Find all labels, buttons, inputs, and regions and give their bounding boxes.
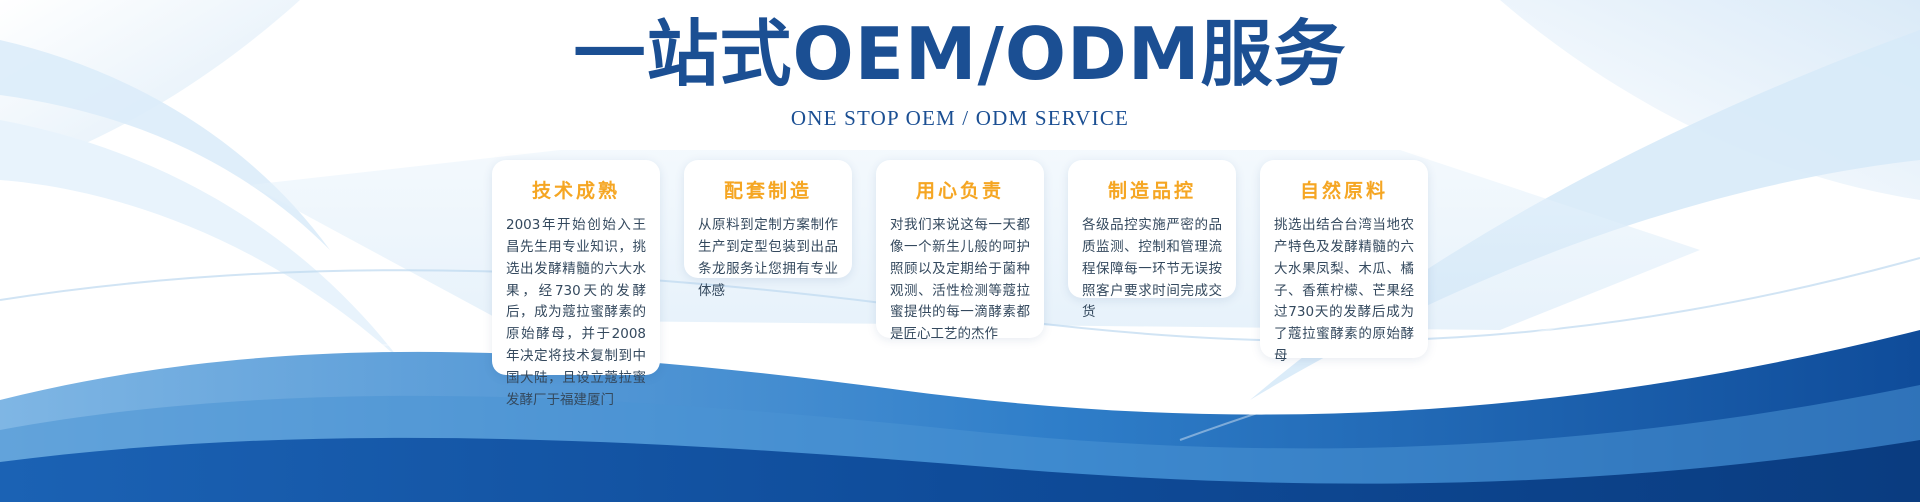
card-title-3: 用心负责 xyxy=(890,176,1030,203)
card-title-5: 自然原料 xyxy=(1274,176,1414,203)
card-title-2: 配套制造 xyxy=(698,176,838,203)
card-title-4: 制造品控 xyxy=(1082,176,1222,203)
feature-card-5[interactable]: 自然原料 挑选出结合台湾当地农产特色及发酵精髓的六大水果凤梨、木瓜、橘子、香蕉柠… xyxy=(1260,160,1428,358)
card-body-2: 从原料到定制方案制作生产到定型包装到出品条龙服务让您拥有专业体感 xyxy=(698,215,838,302)
card-body-3: 对我们来说这每一天都像一个新生儿般的呵护照顾以及定期给于菌种观测、活性检测等蔻拉… xyxy=(890,215,1030,346)
card-body-4: 各级品控实施严密的品质监测、控制和管理流程保障每一环节无误按照客户要求时间完成交… xyxy=(1082,215,1222,324)
feature-card-1[interactable]: 技术成熟 2003年开始创始入王昌先生用专业知识，挑选出发酵精髓的六大水果，经7… xyxy=(492,160,660,375)
feature-card-3[interactable]: 用心负责 对我们来说这每一天都像一个新生儿般的呵护照顾以及定期给于菌种观测、活性… xyxy=(876,160,1044,338)
card-body-1: 2003年开始创始入王昌先生用专业知识，挑选出发酵精髓的六大水果，经730天的发… xyxy=(506,215,646,412)
feature-card-list: 技术成熟 2003年开始创始入王昌先生用专业知识，挑选出发酵精髓的六大水果，经7… xyxy=(0,160,1920,380)
header-block: 一站式OEM/ODM服务 ONE STOP OEM / ODM SERVICE xyxy=(0,18,1920,131)
page-subtitle: ONE STOP OEM / ODM SERVICE xyxy=(0,106,1920,131)
card-title-1: 技术成熟 xyxy=(506,176,646,203)
banner-root: 一站式OEM/ODM服务 ONE STOP OEM / ODM SERVICE … xyxy=(0,0,1920,502)
feature-card-4[interactable]: 制造品控 各级品控实施严密的品质监测、控制和管理流程保障每一环节无误按照客户要求… xyxy=(1068,160,1236,298)
card-body-5: 挑选出结合台湾当地农产特色及发酵精髓的六大水果凤梨、木瓜、橘子、香蕉柠檬、芒果经… xyxy=(1274,215,1414,368)
feature-card-2[interactable]: 配套制造 从原料到定制方案制作生产到定型包装到出品条龙服务让您拥有专业体感 xyxy=(684,160,852,278)
page-title: 一站式OEM/ODM服务 xyxy=(0,18,1920,90)
